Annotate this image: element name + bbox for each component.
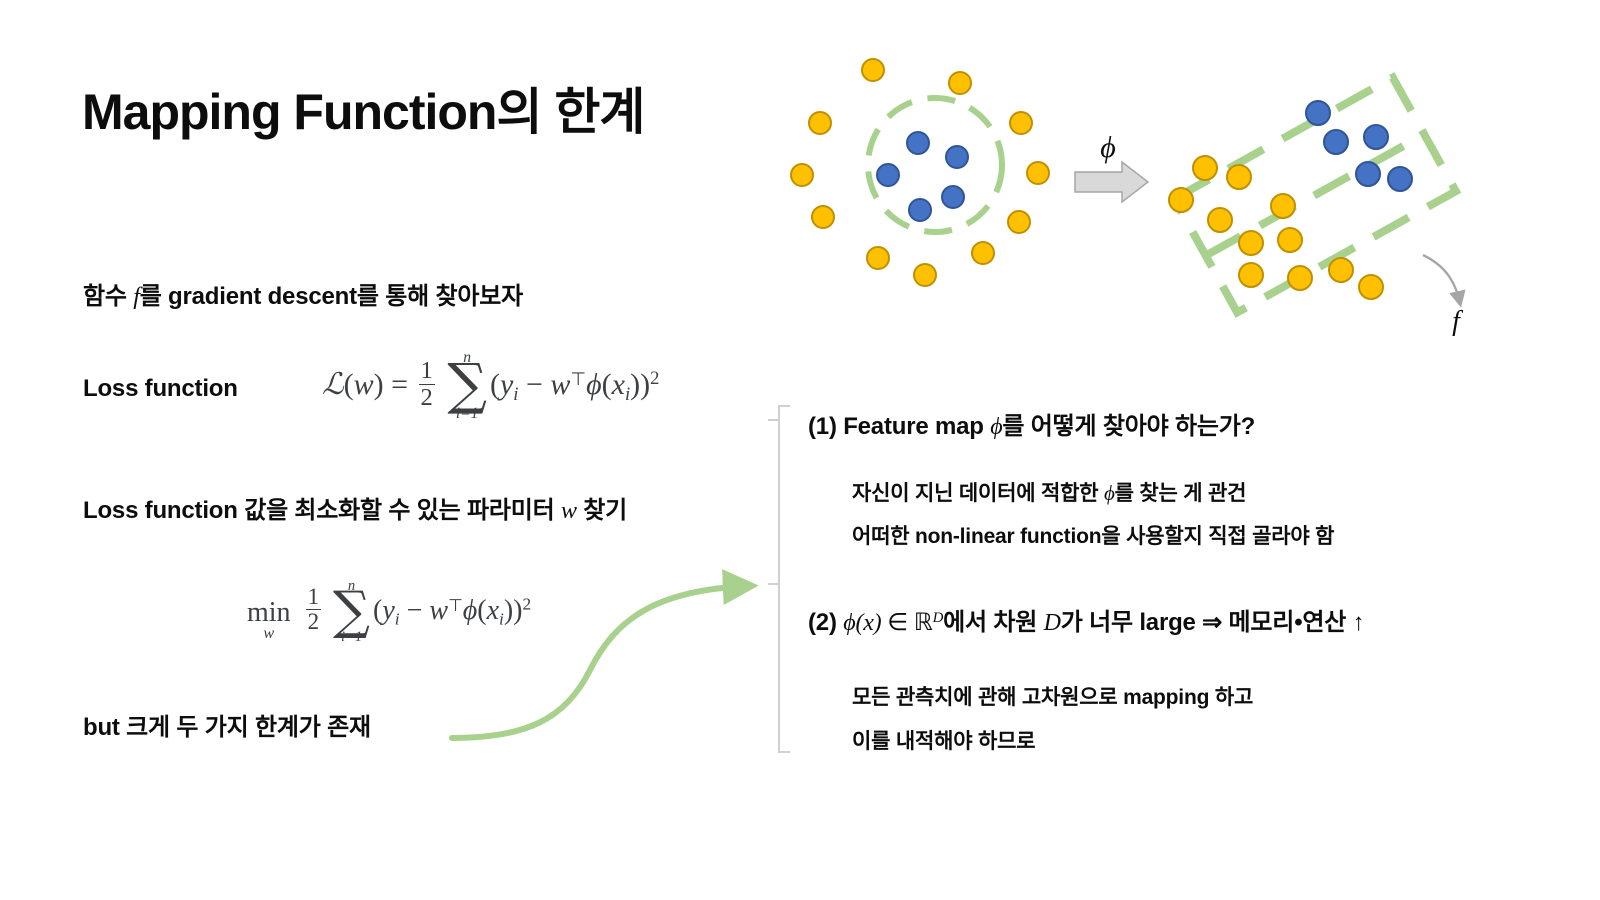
blue-data-point [1356,162,1380,186]
term-y-subscript: i [513,384,518,405]
yellow-data-point [1329,258,1353,282]
limitation-item-1-detail-line-1: 자신이 지닌 데이터에 적합한 ϕ를 찾는 게 관건 [852,477,1246,507]
yellow-data-point [1239,231,1263,255]
f-callout-arrow [1423,255,1460,303]
min-summation-symbol: n ∑ i=1 [333,590,370,632]
term-y: y [500,368,513,401]
phi-transform-arrow-group: ϕ [1075,131,1148,202]
conclusion-line: but 크게 두 가지 한계가 존재 [83,707,371,742]
subtitle-post: 를 gradient descent를 통해 찾아보자 [140,283,523,310]
green-s-curve-connector [430,550,790,770]
blue-data-point [877,164,899,186]
subtitle-pre: 함수 [83,283,133,310]
item-2-element-of: ∈ [881,610,913,636]
loss-function-label: Loss function [83,375,238,403]
term-paren-close: ) [640,368,650,401]
yellow-data-point [1208,208,1232,232]
yellow-data-point [1239,263,1263,287]
blue-data-point [1388,167,1412,191]
formula-script-L: ℒ [322,368,344,401]
right-column-bracket [766,404,796,764]
item-1-phi-symbol: ϕ [990,414,1002,440]
blue-data-point [942,186,964,208]
bracket-path [779,406,790,752]
item-1-marker: (1) [808,413,837,440]
limitation-item-2-detail-line-2: 이를 내적해야 하므로 [852,725,1035,755]
sigma-glyph: ∑ [447,362,487,408]
minimize-variable-w: w [561,498,577,524]
f-callout-group: f [1423,255,1463,337]
subtitle-line: 함수 f를 gradient descent를 통해 찾아보자 [83,276,523,311]
term-inner-paren-open: ( [602,368,612,401]
term-w: w [550,368,570,401]
limitation-item-1-detail-line-2: 어떠한 non-linear function을 사용할지 직접 골라야 함 [852,520,1334,550]
connector-path [452,586,748,738]
item-1-head-pre: Feature map [843,413,990,440]
min-operator: min w [247,597,291,629]
min-summation-lower-limit: i=1 [333,629,370,646]
yellow-data-point [1010,112,1032,134]
yellow-data-point [949,72,971,94]
item-2-dimension-superscript: D [933,610,944,626]
slide-canvas: Mapping Function의 한계 함수 f를 gradient desc… [0,0,1600,900]
item-2-real-numbers-symbol: ℝ [914,610,933,636]
yellow-data-point [972,242,994,264]
fraction-denominator: 2 [419,384,435,411]
minimize-line: Loss function 값을 최소화할 수 있는 파라미터 w 찾기 [83,490,627,525]
blue-data-point [1306,101,1330,125]
item-2-dimension-symbol: D [1044,610,1061,636]
item-1-head-post: 를 어떻게 찾아야 하는가? [1002,413,1255,440]
yellow-data-point [791,164,813,186]
page-title: Mapping Function의 한계 [82,72,644,144]
blue-data-point [946,146,968,168]
loss-function-formula: ℒ(w) = 1 2 n ∑ i=1 (yi − w⊤ϕ(xi))2 [322,358,659,410]
term-squared: 2 [650,368,659,389]
formula-paren-close: ) [374,368,384,401]
min-fraction-numerator: 1 [306,585,321,609]
item-2-of-x: (x) [855,610,881,636]
formula-paren-open: ( [344,368,354,401]
limitation-item-2-detail-line-1: 모든 관측치에 관해 고차원으로 mapping 하고 [852,681,1253,711]
item-2-head-mid: 에서 차원 [943,609,1043,636]
limitation-item-1-heading: (1) Feature map ϕ를 어떻게 찾아야 하는가? [808,406,1255,441]
term-minus: − [526,368,543,401]
min-half-fraction: 1 2 [306,585,321,634]
min-fraction-denominator: 2 [306,609,321,634]
minimize-post: 찾기 [577,497,627,524]
formula-half-fraction: 1 2 [419,358,435,410]
blue-data-point [907,132,929,154]
min-term-minus: − [407,595,423,626]
term-x: x [612,368,625,401]
item-2-head-post: 가 너무 large ⇒ 메모리•연산 ↑ [1061,609,1365,636]
yellow-data-point [1008,211,1030,233]
summation-upper-limit: n [447,349,487,367]
formula-equals: = [391,368,408,401]
yellow-data-point [862,59,884,81]
yellow-data-point [914,264,936,286]
min-term-y-subscript: i [395,609,400,628]
item-2-marker: (2) [808,609,837,636]
min-summation-upper-limit: n [333,578,370,595]
limitation-item-2-heading: (2) ϕ(x) ∈ ℝD에서 차원 D가 너무 large ⇒ 메모리•연산 … [808,602,1364,637]
item-1-l1-pre: 자신이 지닌 데이터에 적합한 [852,482,1104,505]
term-inner-paren-close: ) [630,368,640,401]
blue-data-point [1324,130,1348,154]
yellow-data-point [812,206,834,228]
yellow-data-point [809,112,831,134]
item-1-l1-phi-symbol: ϕ [1104,481,1115,505]
separating-hyperplane-line [1206,134,1425,255]
yellow-data-point [867,247,889,269]
f-callout-label: f [1452,306,1463,337]
yellow-data-point [1193,156,1217,180]
feature-space-cluster [1169,78,1456,313]
yellow-data-point [1278,228,1302,252]
term-phi: ϕ [586,368,602,401]
item-1-l1-post: 를 찾는 게 관건 [1115,482,1247,505]
input-space-cluster [791,59,1049,286]
phi-arrow-label: ϕ [1100,131,1116,164]
item-2-phi-symbol: ϕ [843,610,855,636]
min-term-y: y [382,595,394,626]
formula-w: w [354,368,374,401]
min-sigma-glyph: ∑ [333,590,370,632]
feature-map-diagram: ϕ [770,45,1560,345]
min-subscript: w [247,624,291,643]
blue-data-point [909,199,931,221]
yellow-data-point [1288,266,1312,290]
blue-data-point [1364,125,1388,149]
term-transpose: ⊤ [570,369,586,389]
yellow-data-point [1359,275,1383,299]
term-paren-open: ( [490,368,500,401]
fraction-numerator: 1 [419,358,435,384]
yellow-data-point [1027,162,1049,184]
yellow-data-point [1169,188,1193,212]
minimize-pre: Loss function 값을 최소화할 수 있는 파라미터 [83,497,561,524]
yellow-data-point [1227,165,1251,189]
min-term-paren-open: ( [373,595,382,626]
summation-lower-limit: i=1 [447,405,487,423]
summation-symbol: n ∑ i=1 [447,362,487,408]
yellow-data-point [1271,194,1295,218]
block-arrow-icon [1075,162,1148,202]
